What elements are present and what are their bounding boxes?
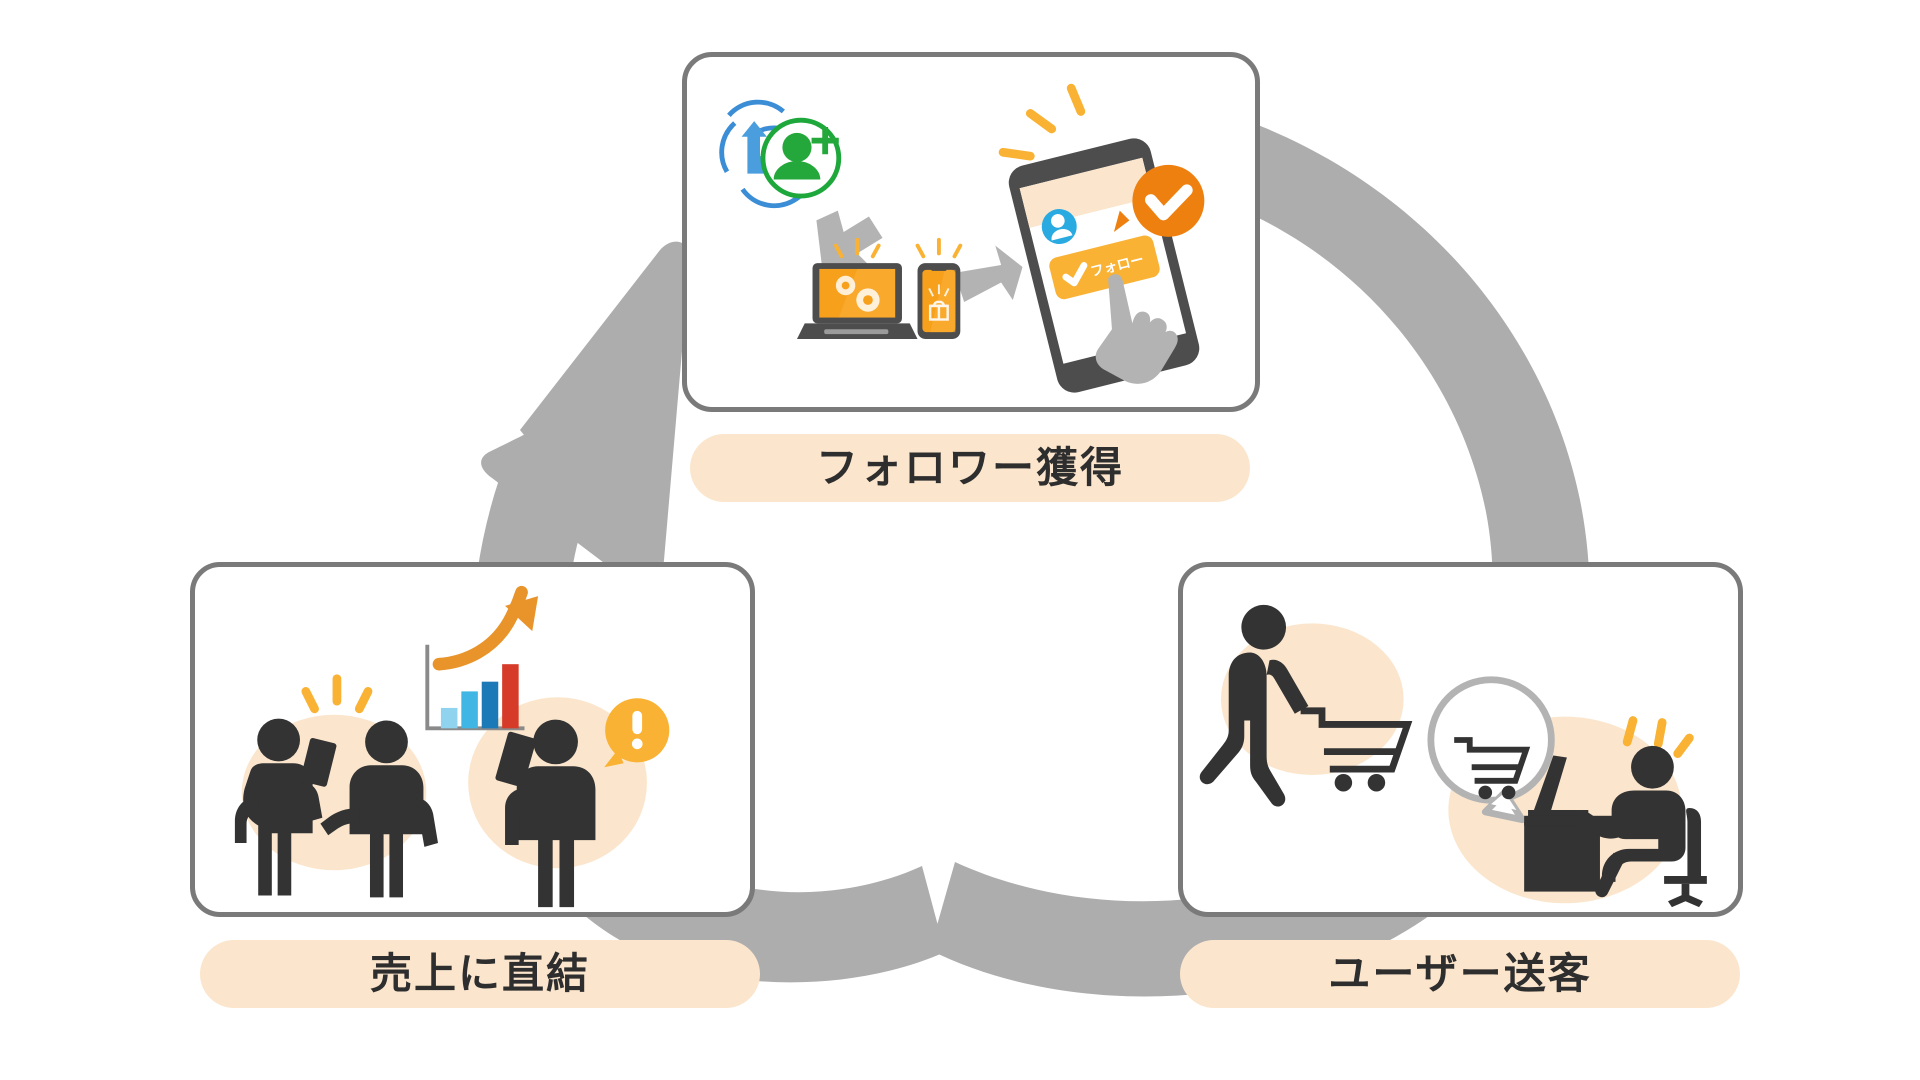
diagram-canvas: フォロー [0, 0, 1920, 1080]
arrow-up-right-icon [954, 246, 1022, 302]
follower-acquisition-illustration: フォロー [687, 57, 1255, 407]
sparkle-icon [1003, 88, 1081, 156]
stage-card-direct-sales[interactable] [190, 562, 755, 917]
stage-label-direct-sales[interactable]: 売上に直結 [200, 940, 760, 1008]
sparkle-icon [918, 240, 961, 257]
stage-label-user-referral[interactable]: ユーザー送客 [1180, 940, 1740, 1008]
exclamation-bubble-icon [604, 698, 669, 767]
bar-3 [482, 682, 499, 729]
user-referral-illustration [1183, 567, 1738, 912]
stage-label-text: 売上に直結 [370, 953, 590, 995]
cart-wheel [1335, 774, 1352, 791]
stage-label-follower-acquisition[interactable]: フォロワー獲得 [690, 434, 1250, 502]
desk-icon [1524, 822, 1600, 892]
bar-2 [461, 691, 478, 728]
direct-sales-illustration [195, 567, 750, 912]
laptop-gears-icon [797, 240, 918, 339]
rising-arrow-icon [439, 592, 538, 664]
cart-wheel [1478, 786, 1492, 800]
cart-wheel [1502, 786, 1516, 800]
stage-label-text: ユーザー送客 [1328, 953, 1591, 995]
bar-4 [502, 664, 519, 728]
add-user-icon [763, 120, 839, 196]
stage-card-user-referral[interactable] [1178, 562, 1743, 917]
stage-card-follower-acquisition[interactable]: フォロー [682, 52, 1260, 412]
bar-1 [441, 708, 458, 728]
cart-wheel [1368, 774, 1385, 791]
stage-label-text: フォロワー獲得 [816, 447, 1124, 489]
smartphone-gift-icon [918, 240, 961, 339]
sparkle-icon [306, 679, 368, 709]
